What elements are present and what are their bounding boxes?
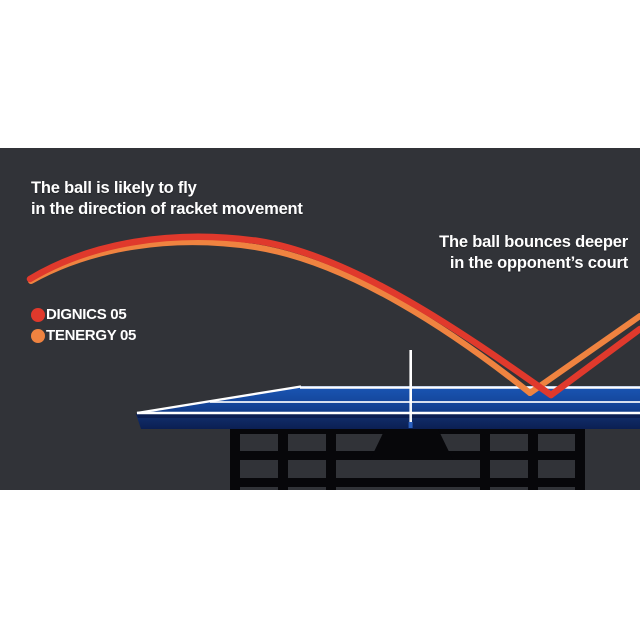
headline-left: The ball is likely to fly in the directi… [31, 178, 303, 220]
legend-label-dignics: DIGNICS 05 [46, 306, 126, 323]
legend-label-tenergy: TENERGY 05 [46, 327, 136, 344]
infographic-page: The ball is likely to fly in the directi… [0, 0, 640, 640]
legend-dot-icon-tenergy [31, 329, 45, 343]
legend: DIGNICS 05 TENERGY 05 [31, 304, 136, 346]
legend-dot-icon-dignics [31, 308, 45, 322]
legend-item-tenergy: TENERGY 05 [31, 325, 136, 346]
trajectory-tenergy-rebound [530, 316, 640, 393]
table-edge-shadow [136, 414, 640, 418]
legend-item-dignics: DIGNICS 05 [31, 304, 136, 325]
headline-right: The ball bounces deeper in the opponent’… [439, 232, 628, 274]
trajectory-dignics-rebound [551, 329, 640, 395]
infographic-panel: The ball is likely to fly in the directi… [0, 148, 640, 490]
